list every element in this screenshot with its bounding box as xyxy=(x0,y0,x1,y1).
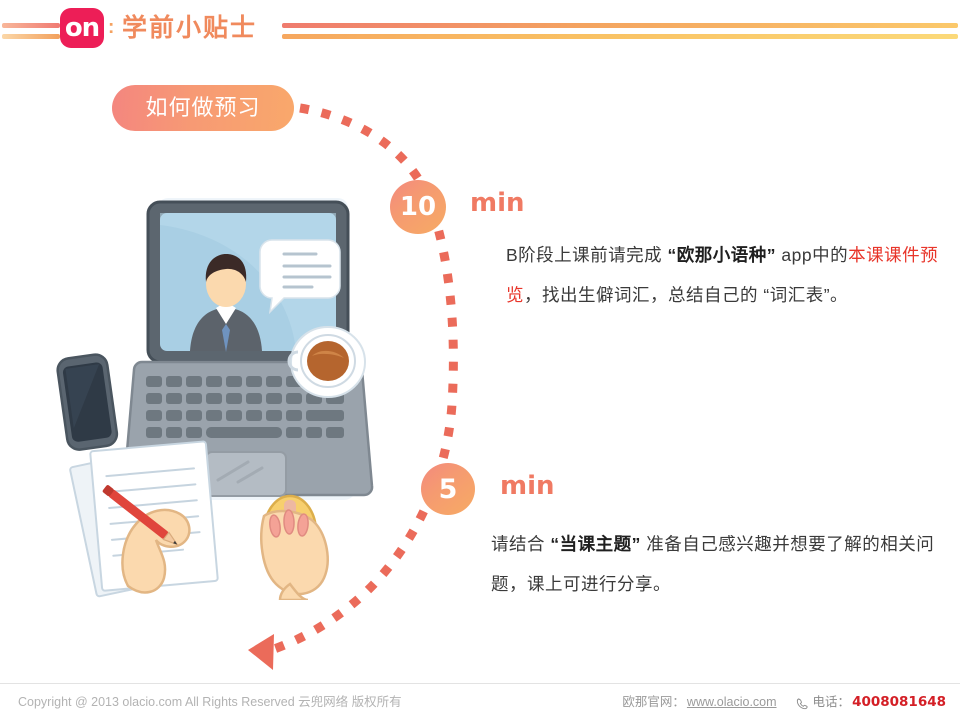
smartphone-icon xyxy=(56,353,118,451)
hand-on-mouse xyxy=(261,496,327,600)
phone-icon xyxy=(795,697,809,711)
min-unit-label-1: min xyxy=(470,190,525,216)
logo-text: on xyxy=(65,15,99,41)
page-header: on : 学前小贴士 xyxy=(0,0,960,58)
coffee-cup-icon xyxy=(289,327,365,397)
header-decor-line-right-bottom xyxy=(282,34,958,39)
min-unit-label-2: min xyxy=(500,473,555,499)
step-badge-10min: 10 xyxy=(390,180,446,234)
step-description-1: B阶段上课前请完成 “欧那小语种” app中的本课课件预览，找出生僻词汇，总结自… xyxy=(506,235,952,315)
text-run-bold: “当课主题” xyxy=(550,534,641,554)
logo-colon: : xyxy=(108,18,114,37)
desk-illustration xyxy=(40,180,400,600)
footer-website-link[interactable]: www.olacio.com xyxy=(687,693,777,711)
pill-label: 如何做预习 xyxy=(145,97,260,119)
footer-site-label: 欧那官网： xyxy=(622,693,685,711)
text-run-normal: B阶段上课前请完成 xyxy=(506,245,668,265)
header-decor-line-right-top xyxy=(282,23,958,28)
header-decor-line-left-bottom xyxy=(2,34,60,39)
footer-phone-label: 电话： xyxy=(813,693,851,711)
olacio-logo: on xyxy=(60,8,104,48)
text-run-normal: 请结合 xyxy=(491,534,550,554)
footer-contact: 欧那官网： www.olacio.com 电话： 4008081648 xyxy=(622,693,946,711)
footer-divider xyxy=(0,683,960,684)
text-run-bold: “欧那小语种” xyxy=(668,245,777,265)
footer-phone-number: 4008081648 xyxy=(852,693,946,711)
footer-copyright: Copyright @ 2013 olacio.com All Rights R… xyxy=(18,693,402,711)
page-title: 学前小贴士 xyxy=(122,12,257,44)
step-badge-5min: 5 xyxy=(421,463,475,515)
step-description-2: 请结合 “当课主题” 准备自己感兴趣并想要了解的相关问题，课上可进行分享。 xyxy=(491,524,937,604)
badge-minutes: 5 xyxy=(439,476,458,503)
text-run-normal: app中的 xyxy=(776,245,848,265)
section-pill-how-to-preview[interactable]: 如何做预习 xyxy=(112,85,294,131)
header-decor-line-left-top xyxy=(2,23,60,28)
badge-minutes: 10 xyxy=(400,194,436,220)
text-run-normal: ，找出生僻词汇，总结自己的 “词汇表”。 xyxy=(524,285,848,305)
